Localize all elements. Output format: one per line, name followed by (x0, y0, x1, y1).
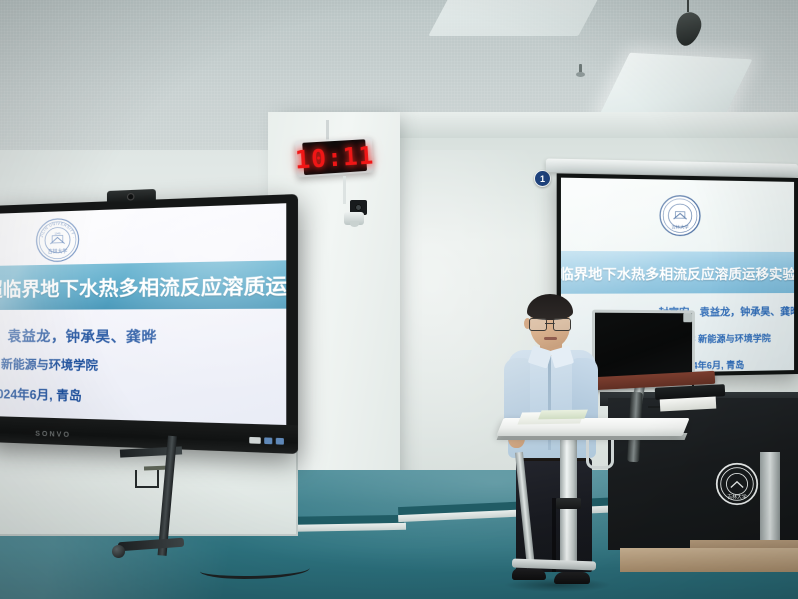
jilin-university-logo-icon-projected: 吉林大学 (658, 194, 701, 237)
glasses-lens-left (529, 318, 547, 331)
hanging-microphone-icon (676, 4, 700, 46)
display-ports[interactable] (249, 437, 284, 445)
port-hdmi[interactable] (264, 437, 272, 444)
lectern-university-emblem-icon: 吉林大学 (715, 462, 759, 506)
podium-cable-hook (586, 440, 614, 469)
projected-slide-title: 深部超临界地下水热多相流反应溶质运移实验与模拟 (561, 262, 794, 283)
slide-authors: 封官宏，袁益龙，钟承昊、龚晔 (0, 326, 286, 348)
ceiling-light-panel-secondary (428, 0, 601, 36)
mic-wire (687, 0, 689, 12)
port-aux[interactable] (276, 438, 284, 445)
presenter-mouth (544, 337, 557, 340)
title-slide: JILIN UNIVERSITY · CHINA 1946 吉林大学 深部超临界… (0, 203, 286, 425)
slide-date-location: 2024年6月, 青岛 (0, 382, 286, 410)
wall-camera-icon (340, 200, 374, 228)
desk-monitor-badge (683, 313, 692, 322)
projected-title-band: 深部超临界地下水热多相流反应溶质运移实验与模拟 (561, 251, 794, 294)
slide-title-band: 深部超临界地下水热多相流反应溶质运移实验与模拟 (0, 260, 286, 310)
wall-led-clock: 10:11 (300, 135, 369, 179)
glasses-lens-right (553, 318, 571, 331)
podium-notebook (538, 410, 588, 420)
projected-slide-header: 吉林大学 (561, 178, 794, 252)
clock-time: 10:11 (294, 142, 374, 172)
port-usb[interactable] (249, 437, 260, 444)
display-stand-caster (112, 545, 125, 558)
sprinkler-icon (576, 64, 585, 78)
lecture-room-photo: JILIN UNIVERSITY · CHINA 1946 吉林大学 深部超临界… (0, 0, 798, 599)
podium-height-clamp[interactable] (556, 498, 581, 509)
slide-affiliation: 吉林大学 新能源与环境学院 (0, 355, 286, 377)
camera-mount (344, 212, 364, 225)
interactive-flat-panel-display[interactable]: JILIN UNIVERSITY · CHINA 1946 吉林大学 深部超临界… (0, 194, 298, 454)
display-brand-label: SONVO (35, 431, 71, 439)
wood-counter (620, 548, 798, 572)
mic-body (671, 9, 704, 49)
presenter-hair (527, 294, 573, 320)
display-screen[interactable]: JILIN UNIVERSITY · CHINA 1946 吉林大学 深部超临界… (0, 203, 286, 425)
slide-title: 深部超临界地下水热多相流反应溶质运移实验与模拟 (0, 267, 286, 302)
presenter-shoe-right (554, 572, 590, 584)
jilin-university-logo-icon: JILIN UNIVERSITY · CHINA 1946 吉林大学 (35, 217, 80, 263)
clock-face: 10:11 (302, 139, 367, 175)
glasses-icon (529, 318, 571, 329)
display-camera-icon (107, 189, 156, 204)
room-number-sign: 1 (534, 170, 551, 187)
display-stand-tray (135, 470, 159, 488)
slide-header: JILIN UNIVERSITY · CHINA 1946 吉林大学 (0, 203, 286, 267)
wall-soffit (398, 112, 798, 138)
presenter-shoe-left (512, 568, 546, 580)
slide-body: 封官宏，袁益龙，钟承昊、龚晔 吉林大学 新能源与环境学院 2024年6月, 青岛 (0, 309, 286, 425)
